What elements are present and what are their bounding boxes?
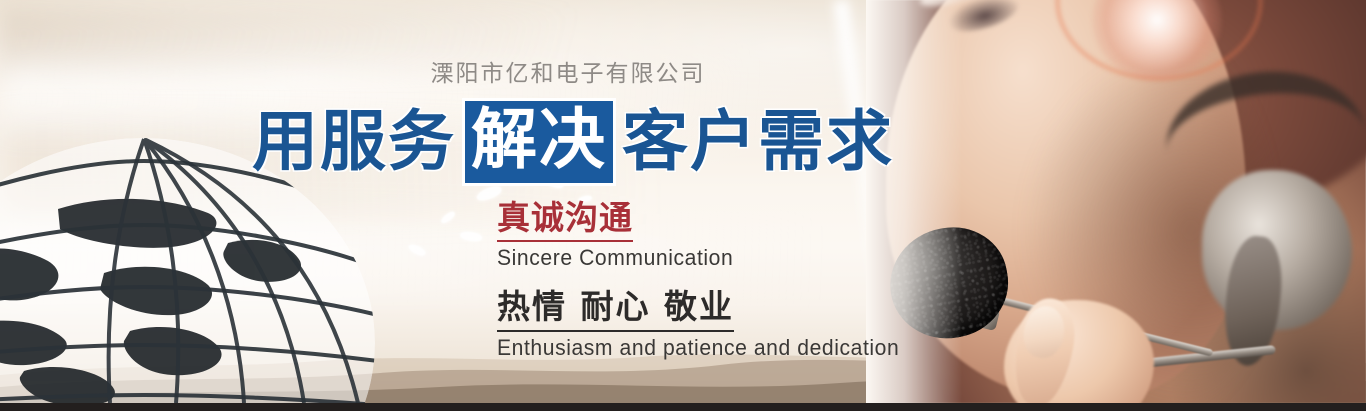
slogan-en-1: Sincere Communication <box>497 245 899 271</box>
slogan-en-2: Enthusiasm and patience and dedication <box>497 335 899 361</box>
slogan-cn-2: 热情 耐心 敬业 <box>497 287 734 331</box>
headline: 用服务 解决 客户需求 <box>252 98 894 186</box>
slogan-item-1: 真诚沟通 Sincere Communication <box>497 198 916 271</box>
bottom-bar <box>0 403 1366 411</box>
hero-banner: 溧阳市亿和电子有限公司 用服务 解决 客户需求 真诚沟通 Sincere Com… <box>0 0 1366 411</box>
company-name: 溧阳市亿和电子有限公司 <box>258 54 878 88</box>
headline-after: 客户需求 <box>622 109 894 175</box>
slogan-gap <box>497 271 916 287</box>
headset-operator-photo <box>866 0 1366 403</box>
slogan-item-2: 热情 耐心 敬业 Enthusiasm and patience and ded… <box>497 287 916 360</box>
headline-before: 用服务 <box>252 109 456 175</box>
slogan-block: 真诚沟通 Sincere Communication 热情 耐心 敬业 Enth… <box>497 198 916 361</box>
headline-highlight: 解决 <box>462 98 616 186</box>
slogan-cn-1: 真诚沟通 <box>497 198 633 242</box>
